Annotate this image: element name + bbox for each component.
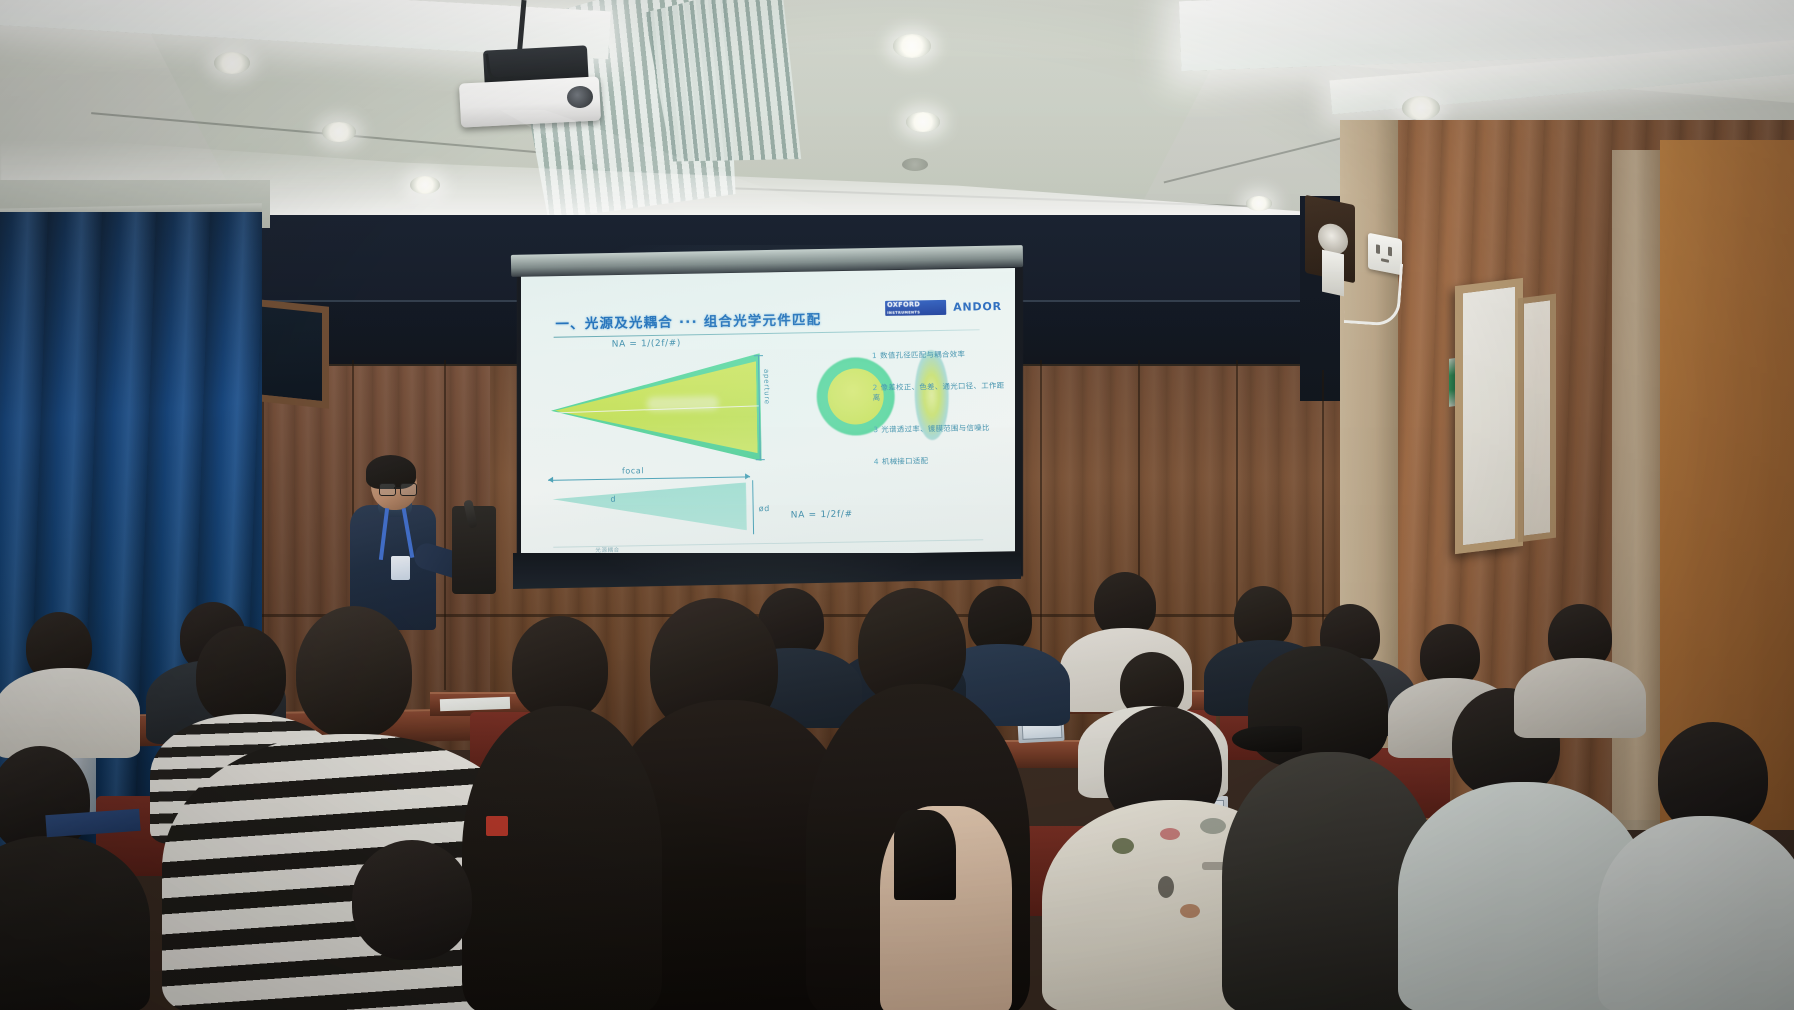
- framed-artwork: [1518, 294, 1556, 543]
- wall-junction-box: [1322, 250, 1344, 297]
- bullet-number: 1: [872, 351, 877, 360]
- conference-room-photo: 一、光源及光耦合 ··· 组合光学元件匹配 OXFORD INSTRUMENTS…: [0, 0, 1794, 1010]
- audience-shoulders: [1598, 816, 1794, 1010]
- framed-artwork: [1455, 278, 1523, 554]
- bullet-text: 机械接口适配: [882, 456, 929, 466]
- bullet-number: 4: [874, 457, 879, 466]
- glasses-lens: [379, 483, 396, 496]
- bullet-text: 数值孔径匹配与耦合效率: [880, 350, 965, 360]
- downlight: [893, 34, 931, 58]
- audience-head: [196, 626, 286, 724]
- aperture-label: aperture: [762, 369, 771, 405]
- audience-shoulders: [0, 668, 140, 758]
- projection-screen: 一、光源及光耦合 ··· 组合光学元件匹配 OXFORD INSTRUMENTS…: [521, 268, 1015, 560]
- dimension-line: [548, 476, 750, 481]
- diameter-label: ød: [759, 504, 770, 513]
- diameter-dimension-bar: [752, 480, 754, 534]
- light-cone-diagram: NA = 1/(2f/#) aperture: [550, 352, 802, 466]
- jacket-pattern-dot: [1112, 838, 1134, 854]
- cap-brim: [1232, 726, 1302, 752]
- bullet-number: 3: [873, 425, 878, 434]
- downlight: [322, 122, 356, 142]
- bullet-item: 4机械接口适配: [874, 455, 1010, 467]
- secondary-cone-diagram: focal d ød: [548, 476, 789, 540]
- oxford-instruments-logo: OXFORD INSTRUMENTS: [885, 300, 946, 316]
- small-dimension-label: d: [610, 495, 616, 504]
- bullet-text: 像差校正、色差、通光口径、工作距离: [873, 381, 1005, 402]
- audience-head: [512, 616, 608, 720]
- downlight: [410, 176, 440, 194]
- secondary-cone: [552, 482, 747, 533]
- downlight: [1402, 96, 1440, 120]
- jacket-pattern-dot: [1200, 818, 1226, 834]
- slide-footer-text: 光源耦合: [595, 546, 620, 554]
- logo-line-1: OXFORD: [887, 301, 920, 308]
- numerical-aperture-formula: NA = 1/(2f/#): [612, 339, 681, 350]
- dimension-cap: [754, 355, 763, 356]
- presentation-slide: 一、光源及光耦合 ··· 组合光学元件匹配 OXFORD INSTRUMENTS…: [521, 268, 1015, 560]
- focal-length-label: focal: [622, 466, 644, 475]
- outlet-slot: [1388, 247, 1392, 257]
- bullet-item: 3光谱透过率、镀膜范围与信噪比: [873, 423, 1009, 435]
- audience-long-hair: [462, 706, 662, 1010]
- dimension-arrow: [745, 473, 750, 479]
- power-cord: [1344, 260, 1403, 327]
- glasses-bridge: [394, 487, 400, 489]
- bullet-number: 2: [872, 383, 877, 392]
- audience-head: [352, 840, 472, 960]
- jacket-pattern-dot: [1160, 828, 1180, 840]
- dimension-arrow: [548, 477, 553, 483]
- audience-shoulders: [1514, 658, 1646, 738]
- presenter-glasses: [379, 483, 417, 495]
- andor-wordmark: ANDOR: [953, 300, 1002, 314]
- glasses-lens: [400, 483, 417, 496]
- downlight: [1246, 196, 1272, 211]
- f-number-formula: NA = 1/2f/#: [791, 510, 853, 521]
- jacket-pattern-dot: [1158, 876, 1174, 898]
- red-marker: [486, 816, 508, 836]
- audience-head: [1234, 586, 1292, 648]
- paper-sheet: [440, 697, 510, 711]
- dimension-cap: [756, 459, 765, 460]
- bullet-text: 光谱透过率、镀膜范围与信噪比: [881, 423, 990, 434]
- slide-bullet-list: 1数值孔径匹配与耦合效率 2像差校正、色差、通光口径、工作距离 3光谱透过率、镀…: [872, 349, 1010, 489]
- bullet-item: 2像差校正、色差、通光口径、工作距离: [872, 381, 1008, 403]
- outlet-slot: [1376, 244, 1380, 254]
- panel-seam: [444, 360, 446, 690]
- presenter-badge: [391, 556, 410, 580]
- audience-strap: [894, 810, 956, 900]
- downlight: [906, 112, 940, 132]
- bullet-item: 1数值孔径匹配与耦合效率: [872, 349, 1008, 361]
- panel-seam: [1040, 360, 1042, 690]
- logo-line-2: INSTRUMENTS: [887, 309, 920, 316]
- downlight: [214, 52, 250, 74]
- audience-head: [296, 606, 412, 738]
- smoke-detector: [902, 158, 928, 171]
- slide-title: 一、光源及光耦合 ··· 组合光学元件匹配: [555, 308, 821, 333]
- jacket-pattern-dot: [1180, 904, 1200, 918]
